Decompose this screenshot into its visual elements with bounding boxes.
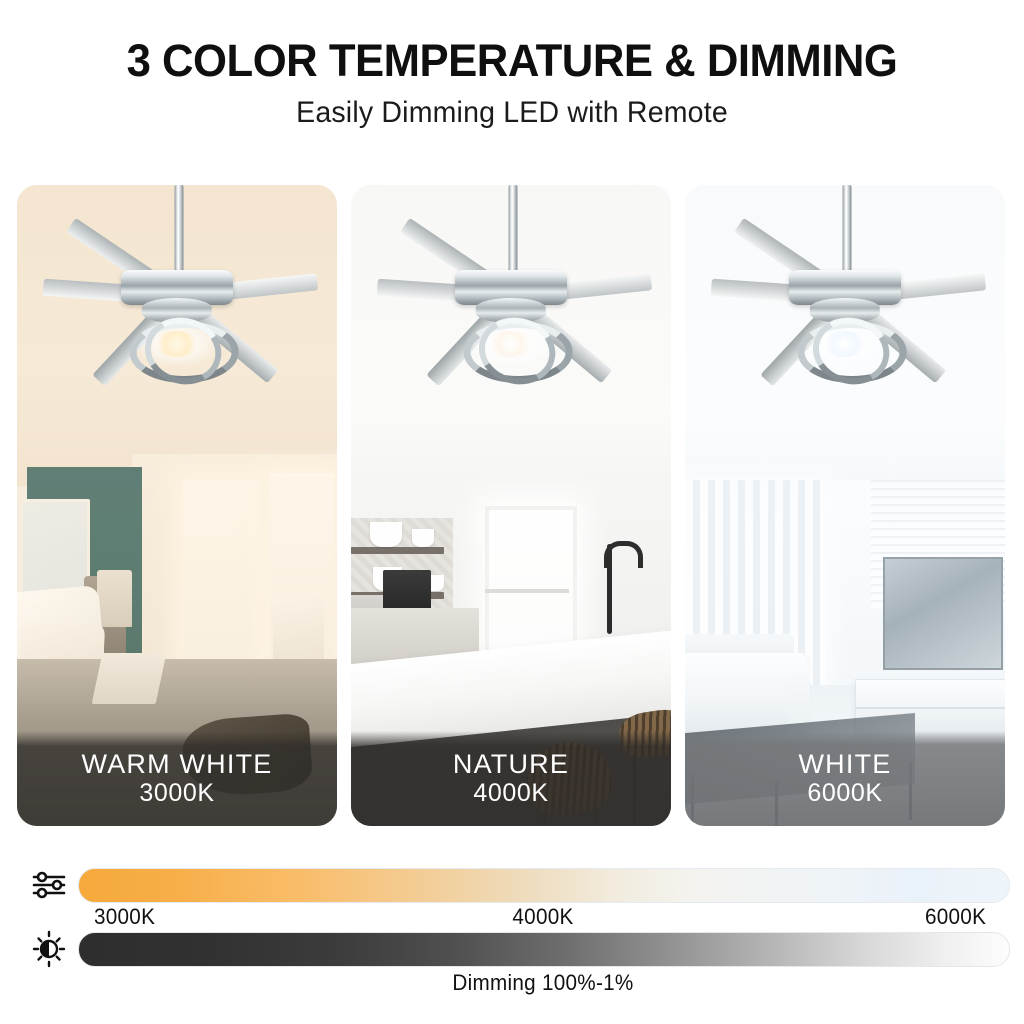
dimming-gradient-bar[interactable]: [78, 932, 1010, 967]
fan-light-kit: [457, 317, 566, 374]
ceiling-fan-icon: [351, 185, 671, 518]
ceiling-fan-icon: [685, 185, 1005, 518]
card-label-name: NATURE: [453, 749, 569, 779]
fan-downrod: [174, 185, 183, 272]
card-nature[interactable]: NATURE 4000K: [351, 185, 671, 826]
card-label-kelvin: 6000K: [807, 779, 882, 808]
card-warm-white[interactable]: WARM WHITE 3000K: [17, 185, 337, 826]
card-white[interactable]: WHITE 6000K: [685, 185, 1005, 826]
card-label-kelvin: 3000K: [139, 779, 214, 808]
card-caption: NATURE 4000K: [351, 731, 671, 826]
color-temperature-gradient-bar[interactable]: [78, 868, 1010, 903]
card-label-kelvin: 4000K: [473, 779, 548, 808]
tick-3000k: 3000K: [94, 904, 155, 930]
card-caption: WARM WHITE 3000K: [17, 731, 337, 826]
color-temperature-card-row: WARM WHITE 3000K: [17, 185, 1007, 826]
dimming-label: Dimming 100%-1%: [106, 970, 980, 996]
control-legend: 3000K 4000K 6000K: [0, 850, 1024, 1024]
fan-downrod: [508, 185, 517, 272]
card-label-name: WHITE: [799, 749, 892, 779]
color-temperature-ticks: 3000K 4000K 6000K: [78, 904, 1008, 934]
ceiling-fan-icon: [17, 185, 337, 518]
tick-4000k: 4000K: [512, 904, 573, 930]
page-subtitle: Easily Dimming LED with Remote: [26, 96, 999, 130]
sliders-icon: [30, 864, 70, 906]
header: 3 COLOR TEMPERATURE & DIMMING Easily Dim…: [0, 0, 1024, 130]
tick-6000k: 6000K: [925, 904, 986, 930]
fan-downrod: [842, 185, 851, 272]
card-caption: WHITE 6000K: [685, 731, 1005, 826]
page-title: 3 COLOR TEMPERATURE & DIMMING: [15, 38, 1008, 84]
fan-light-kit: [791, 317, 900, 374]
card-label-name: WARM WHITE: [82, 749, 273, 779]
fan-light-kit: [123, 317, 232, 374]
brightness-sun-icon: [30, 928, 70, 970]
